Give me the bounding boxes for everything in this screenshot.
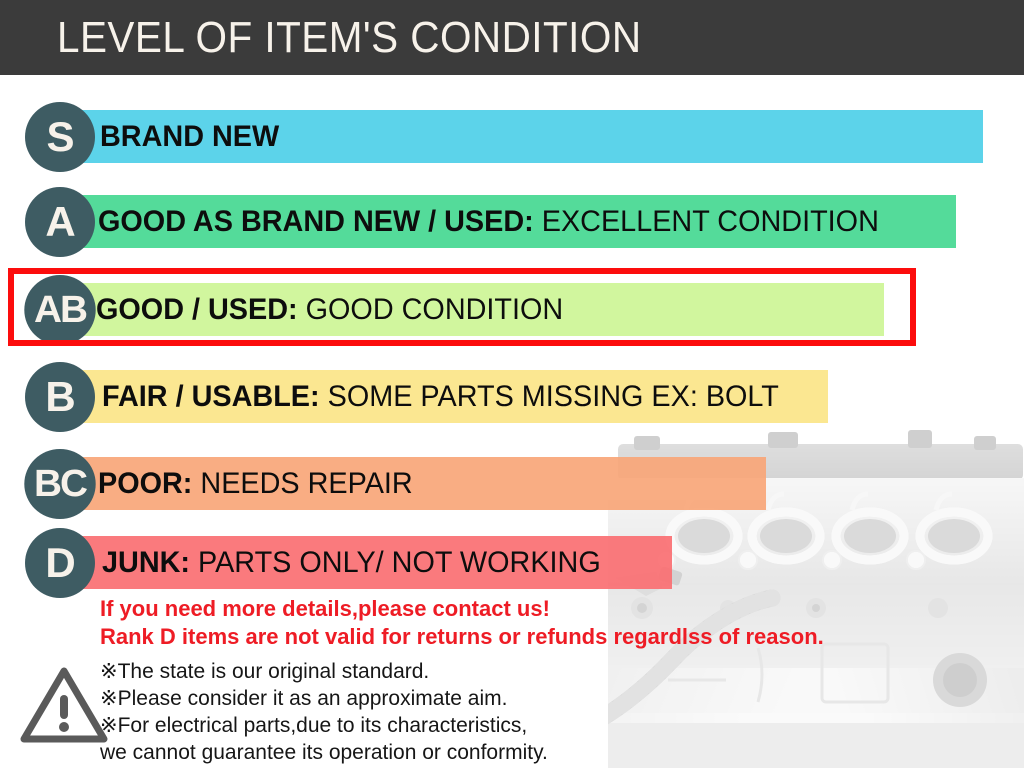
- rank-description-ab: GOOD CONDITION: [298, 293, 564, 326]
- notice-approximate-aim: ※Please consider it as an approximate ai…: [100, 685, 507, 712]
- rank-text-a: GOOD AS BRAND NEW / USED: EXCELLENT COND…: [98, 204, 879, 240]
- rank-badge-s: S: [25, 102, 95, 172]
- rank-description-d: PARTS ONLY/ NOT WORKING: [190, 546, 601, 579]
- rank-badge-d: D: [25, 528, 95, 598]
- notice-original-standard: ※The state is our original standard.: [100, 658, 429, 685]
- rank-badge-ab: AB: [24, 275, 95, 345]
- rank-badge-label: BC: [34, 463, 86, 506]
- rank-label-d: JUNK:: [102, 546, 190, 579]
- rank-label-a: GOOD AS BRAND NEW / USED:: [98, 205, 534, 238]
- rank-row-b: B FAIR / USABLE: SOME PARTS MISSING EX: …: [0, 362, 1024, 434]
- rank-label-b: FAIR / USABLE:: [102, 380, 320, 413]
- rank-badge-label: B: [45, 373, 74, 421]
- rank-badge-bc: BC: [24, 449, 95, 519]
- rank-badge-a: A: [25, 187, 95, 257]
- rank-text-ab: GOOD / USED: GOOD CONDITION: [96, 292, 563, 328]
- rank-row-a: A GOOD AS BRAND NEW / USED: EXCELLENT CO…: [0, 187, 1024, 259]
- rank-label-bc: POOR:: [98, 467, 192, 500]
- condition-level-infographic: LEVEL OF ITEM'S CONDITION S BRAND NEW A …: [0, 0, 1024, 768]
- rank-description-a: EXCELLENT CONDITION: [534, 205, 879, 238]
- warning-triangle-icon: [18, 663, 110, 747]
- page-title: LEVEL OF ITEM'S CONDITION: [57, 14, 642, 62]
- rank-row-s: S BRAND NEW: [0, 102, 1024, 174]
- rank-row-bc: BC POOR: NEEDS REPAIR: [0, 449, 1024, 521]
- rank-label-ab: GOOD / USED:: [96, 293, 298, 326]
- rank-description-b: SOME PARTS MISSING EX: BOLT: [320, 380, 779, 413]
- rank-text-bc: POOR: NEEDS REPAIR: [98, 466, 413, 502]
- rank-badge-label: AB: [34, 289, 86, 332]
- contact-notice: If you need more details,please contact …: [100, 596, 550, 622]
- notice-electrical-parts: ※For electrical parts,due to its charact…: [100, 712, 527, 739]
- rank-badge-label: D: [45, 539, 74, 587]
- rank-description-bc: NEEDS REPAIR: [192, 467, 412, 500]
- rank-row-ab: AB GOOD / USED: GOOD CONDITION: [0, 275, 1024, 347]
- rank-text-d: JUNK: PARTS ONLY/ NOT WORKING: [102, 545, 601, 581]
- rank-badge-label: S: [46, 113, 73, 161]
- rank-text-b: FAIR / USABLE: SOME PARTS MISSING EX: BO…: [102, 379, 779, 415]
- rank-text-s: BRAND NEW: [100, 119, 279, 155]
- rank-badge-label: A: [45, 198, 74, 246]
- rank-badge-b: B: [25, 362, 95, 432]
- rank-row-d: D JUNK: PARTS ONLY/ NOT WORKING: [0, 528, 1024, 600]
- rank-d-return-policy-notice: Rank D items are not valid for returns o…: [100, 624, 824, 650]
- notice-no-guarantee: we cannot guarantee its operation or con…: [100, 739, 548, 766]
- rank-label-s: BRAND NEW: [100, 120, 279, 153]
